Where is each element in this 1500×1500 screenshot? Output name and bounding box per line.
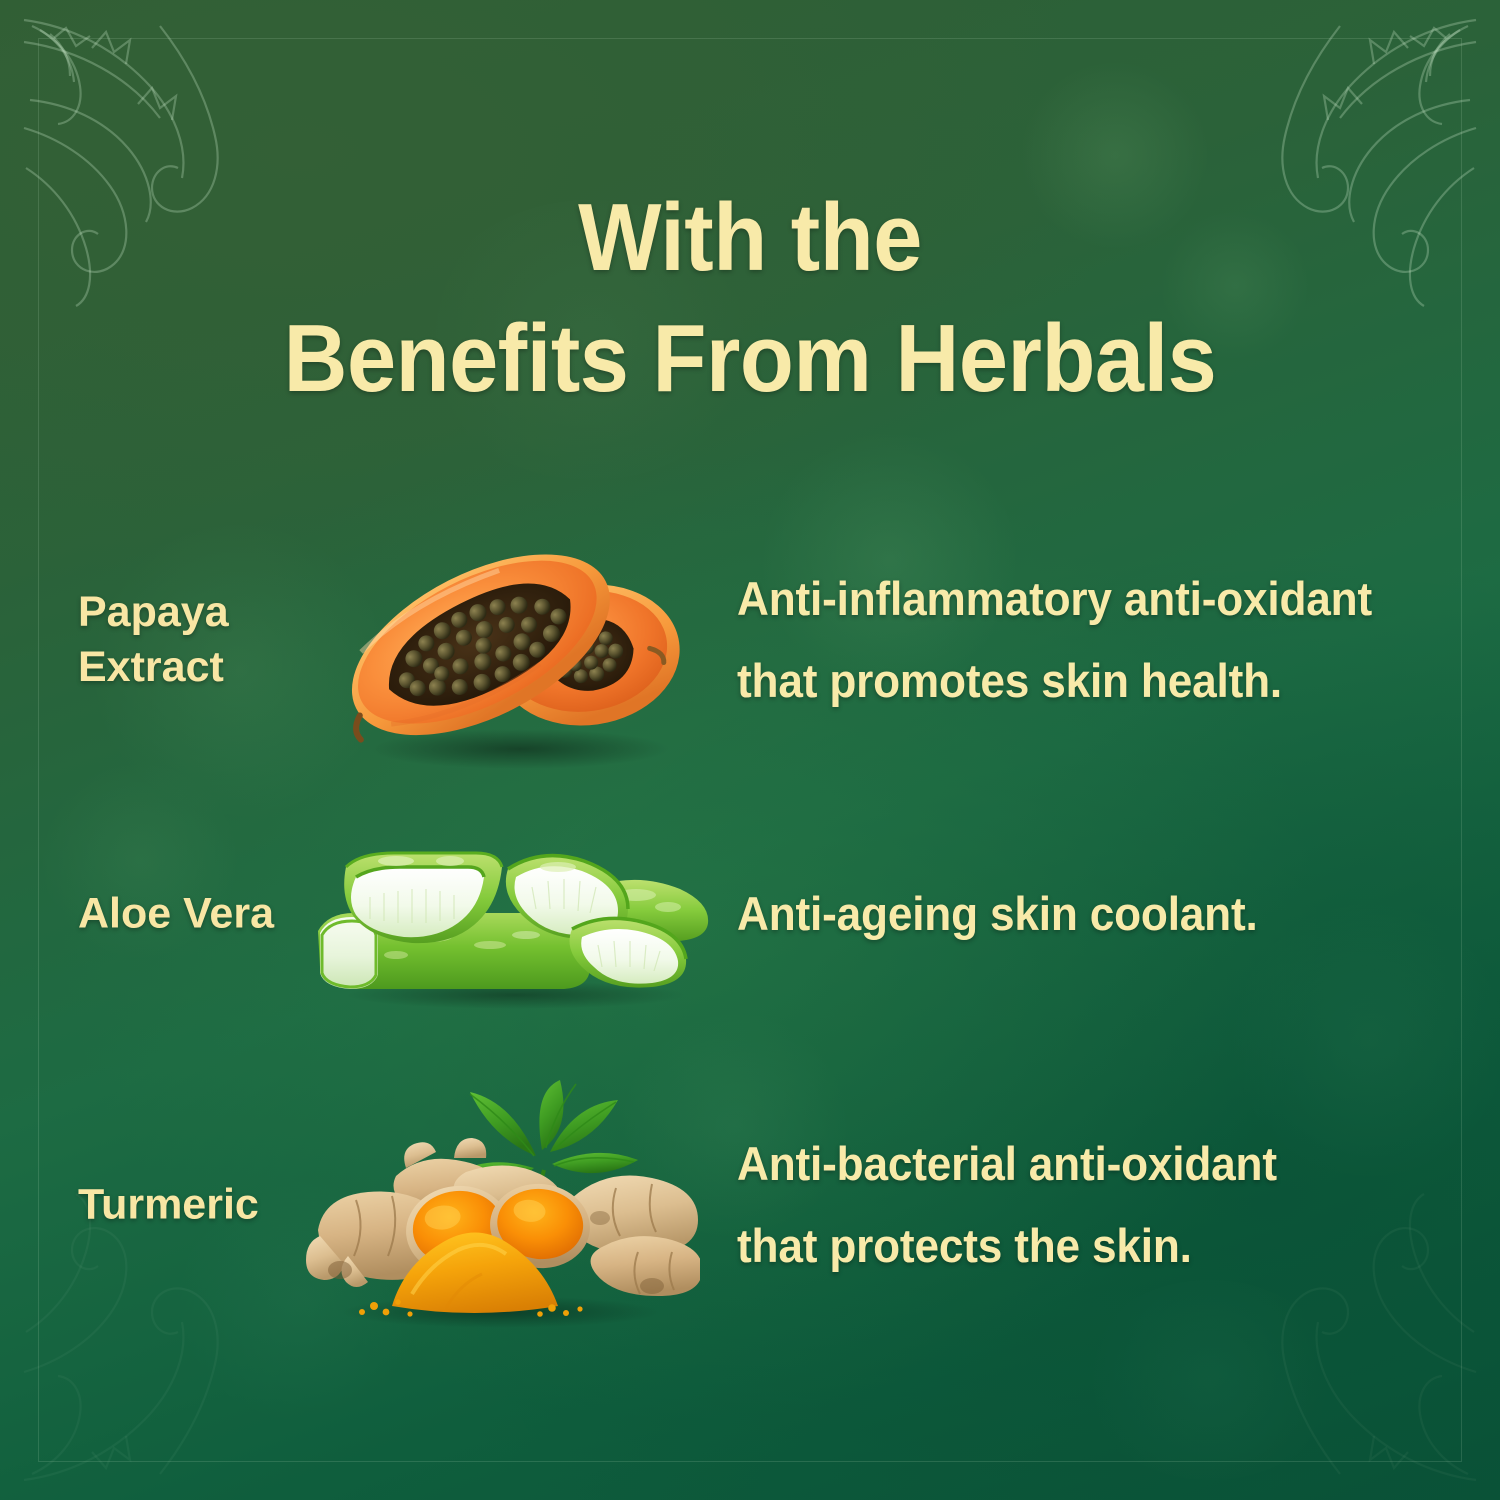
ingredient-description-line-2: that protects the skin. (737, 1205, 1433, 1287)
ingredient-description: Anti-bacterial anti-oxidant that protect… (737, 1123, 1477, 1288)
herbal-benefits-poster: With the Benefits From Herbals Papaya Ex… (0, 0, 1500, 1500)
ingredient-description-line-1: Anti-inflammatory anti-oxidant (737, 558, 1433, 640)
papaya-image (320, 505, 710, 775)
ingredient-description-line-1: Anti-bacterial anti-oxidant (737, 1123, 1433, 1205)
turmeric-image (300, 1080, 700, 1330)
aloe-vera-image (300, 819, 730, 1009)
corner-ornament-icon (10, 1192, 310, 1492)
bokeh-blob (1080, 1280, 1340, 1480)
ingredient-description: Anti-ageing skin coolant. (737, 873, 1477, 955)
ingredient-name: Papaya Extract (78, 585, 348, 695)
ingredient-name-line-2: Extract (78, 640, 348, 695)
ingredient-name-line-1: Papaya (78, 585, 348, 640)
ingredient-description: Anti-inflammatory anti-oxidant that prom… (737, 558, 1477, 723)
ingredient-description-line-2: that promotes skin health. (737, 640, 1433, 722)
page-title: With the Benefits From Herbals (60, 178, 1440, 420)
headline-line-1: With the (60, 178, 1440, 299)
ingredient-description-line-1: Anti-ageing skin coolant. (737, 873, 1433, 955)
headline-line-2: Benefits From Herbals (60, 299, 1440, 420)
